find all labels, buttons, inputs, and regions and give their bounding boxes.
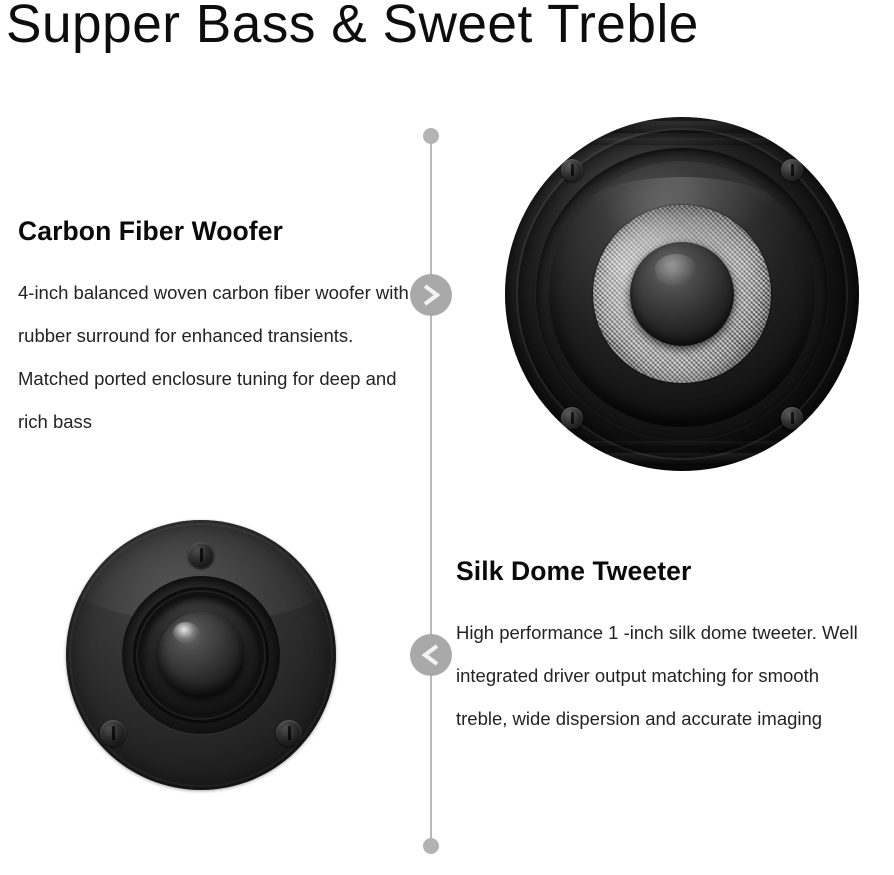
woofer-screw-bottom-left — [561, 407, 583, 429]
page-title: Supper Bass & Sweet Treble — [6, 0, 881, 52]
feature-block-silk-dome-tweeter: Silk Dome Tweeter High performance 1 -in… — [456, 556, 860, 826]
carbon-fiber-woofer-photo — [505, 117, 859, 471]
feature-body-woofer: 4-inch balanced woven carbon fiber woofe… — [18, 271, 414, 443]
woofer-screw-bottom-right — [781, 407, 803, 429]
woofer-screw-top-right — [781, 159, 803, 181]
tweeter-screw-bottom-left — [100, 720, 126, 746]
feature-heading-woofer: Carbon Fiber Woofer — [18, 216, 414, 247]
center-divider — [430, 133, 432, 845]
tweeter-screw-top — [188, 542, 214, 568]
feature-block-carbon-fiber-woofer: Carbon Fiber Woofer 4-inch balanced wove… — [18, 216, 414, 570]
woofer-basket-frame — [505, 117, 859, 471]
tweeter-screw-bottom-right — [276, 720, 302, 746]
tweeter-silk-dome — [158, 612, 244, 698]
divider-end-dot-bottom — [423, 838, 439, 854]
divider-end-dot-top — [423, 128, 439, 144]
feature-body-tweeter: High performance 1 -inch silk dome tweet… — [456, 611, 860, 740]
woofer-dust-cap — [630, 242, 734, 346]
silk-dome-tweeter-photo — [66, 520, 336, 790]
feature-heading-tweeter: Silk Dome Tweeter — [456, 556, 860, 587]
woofer-screw-top-left — [561, 159, 583, 181]
chevron-left-icon — [410, 634, 452, 676]
chevron-right-icon — [410, 274, 452, 316]
